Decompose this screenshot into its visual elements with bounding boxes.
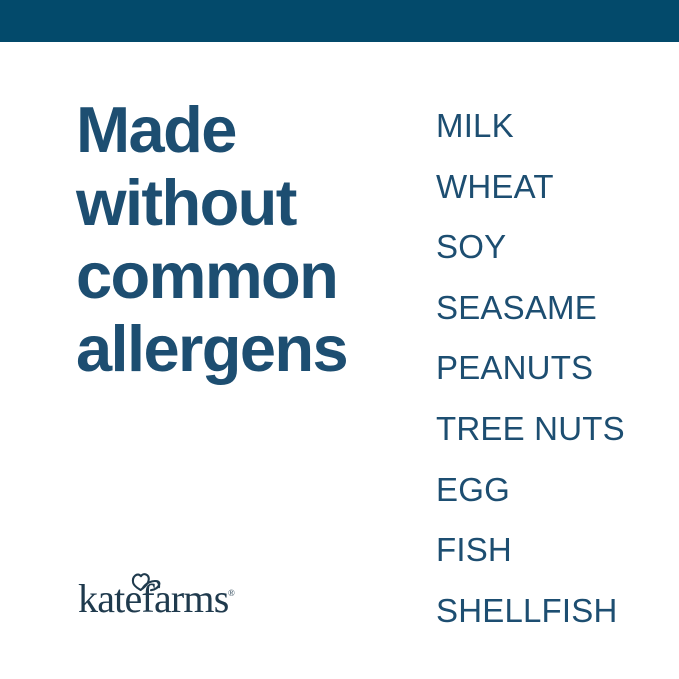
list-item: PEANUTS <box>436 338 666 399</box>
brand-logo: katefarms ® <box>78 566 238 618</box>
logo-wordmark: katefarms <box>78 576 229 621</box>
list-item: MILK <box>436 96 666 157</box>
list-item: TREE NUTS <box>436 399 666 460</box>
registered-trademark-symbol: ® <box>228 588 235 598</box>
list-item: SOY <box>436 217 666 278</box>
list-item: SEASAME <box>436 278 666 339</box>
headline-line-2: without <box>76 166 406 239</box>
allergen-info-card: Made without common allergens MILK WHEAT… <box>0 0 679 679</box>
list-item: WHEAT <box>436 157 666 218</box>
list-item: EGG <box>436 460 666 521</box>
page-title: Made without common allergens <box>76 93 406 385</box>
headline-line-3: common <box>76 239 406 312</box>
list-item: SHELLFISH <box>436 581 666 642</box>
top-navy-band <box>0 0 679 42</box>
headline-line-4: allergens <box>76 312 406 385</box>
list-item: FISH <box>436 520 666 581</box>
headline-line-1: Made <box>76 93 406 166</box>
allergen-list: MILK WHEAT SOY SEASAME PEANUTS TREE NUTS… <box>436 96 666 641</box>
